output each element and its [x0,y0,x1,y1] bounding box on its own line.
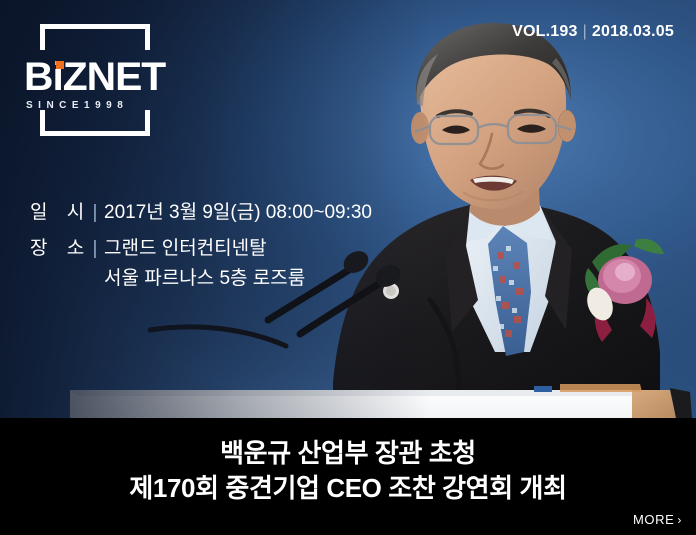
logo-frame-bottom [40,131,150,136]
logo-frame-corner-br [145,110,150,136]
volume-label: VOL.193 [512,23,577,40]
logo-tagline: SINCE1998 [26,100,168,111]
logo-frame-top [40,24,150,29]
logo-mark: BiZNET SINCE1998 [22,57,168,111]
issue-date: 2018.03.05 [592,23,674,40]
logo-frame-corner-tr [145,24,150,50]
newsletter-banner: BiZNET SINCE1998 VOL.193|2018.03.05 일 시 … [0,0,696,535]
info-row-datetime: 일 시 | 2017년 3월 9일(금) 08:00~09:30 [30,198,372,228]
event-info-block: 일 시 | 2017년 3월 9일(금) 08:00~09:30 장 소 | 그… [30,198,372,300]
info-value-venue-line2: 서울 파르나스 5층 로즈룸 [104,264,305,294]
info-value-venue: 그랜드 인터컨티넨탈 서울 파르나스 5층 로즈룸 [104,234,305,294]
volume-date-separator: | [583,23,587,40]
info-label-datetime: 일 시 [30,198,86,228]
logo-orange-dot-icon [56,61,64,69]
more-button[interactable]: MORE › [633,512,682,527]
info-value-datetime: 2017년 3월 9일(금) 08:00~09:30 [104,198,372,228]
headline-bar: 백운규 산업부 장관 초청 제170회 중견기업 CEO 조찬 강연회 개최 M… [0,418,696,535]
logo-frame-corner-tl [40,24,45,50]
volume-date: VOL.193|2018.03.05 [512,23,674,41]
biznet-logo[interactable]: BiZNET SINCE1998 [22,24,168,136]
info-label-venue: 장 소 [30,234,86,264]
logo-frame-corner-bl [40,110,45,136]
more-label: MORE [633,512,674,527]
info-row-venue: 장 소 | 그랜드 인터컨티넨탈 서울 파르나스 5층 로즈룸 [30,234,372,294]
headline-line-2: 제170회 중견기업 CEO 조찬 강연회 개최 [0,471,696,506]
info-divider-venue: | [86,234,104,264]
headline-line-1: 백운규 산업부 장관 초청 [0,436,696,471]
info-divider-datetime: | [86,198,104,228]
logo-wordmark: BiZNET [24,57,165,97]
chevron-right-icon: › [677,514,682,526]
headline-text: 백운규 산업부 장관 초청 제170회 중견기업 CEO 조찬 강연회 개최 [0,436,696,506]
info-value-venue-line1: 그랜드 인터컨티넨탈 [104,238,267,259]
